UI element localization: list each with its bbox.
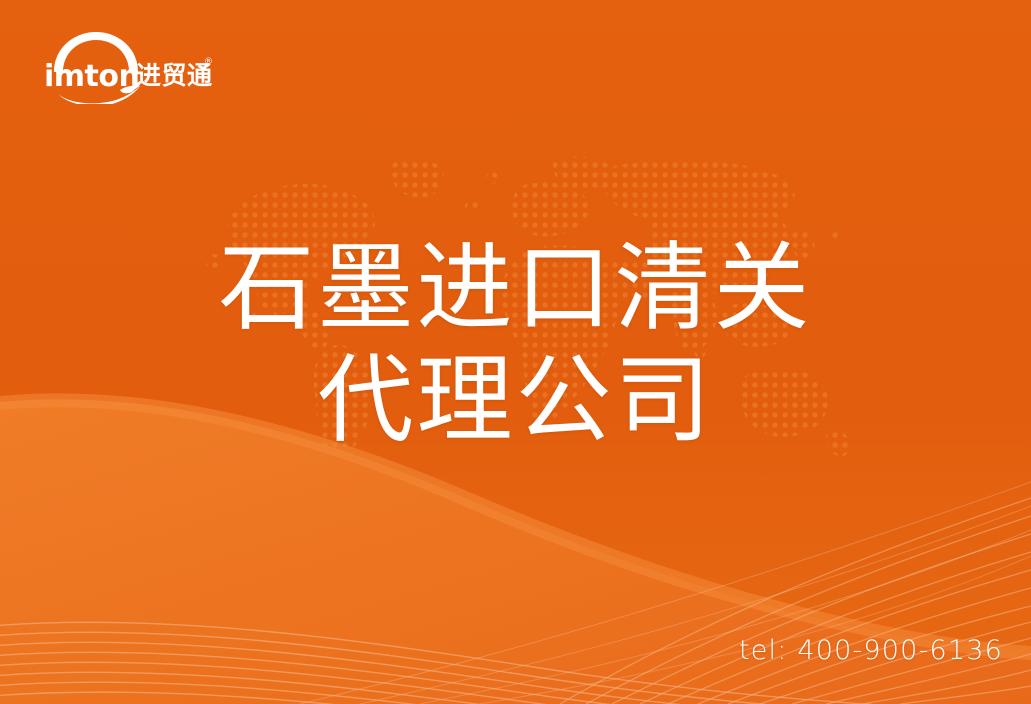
logo-latin-text: imton [44,59,139,94]
promo-banner: imton 进贸通 ® 石墨进口清关 代理公司 tel: 400-900-613… [0,0,1031,704]
imton-logo[interactable]: imton 进贸通 ® [36,28,216,104]
headline-line-1: 石墨进口清关 [0,232,1031,344]
registered-trademark-icon: ® [204,57,213,67]
phone-number[interactable]: tel: 400-900-6136 [739,635,1003,666]
headline-line-2: 代理公司 [0,344,1031,456]
headline: 石墨进口清关 代理公司 [0,232,1031,456]
logo-chinese-text: 进贸通 [136,61,213,90]
